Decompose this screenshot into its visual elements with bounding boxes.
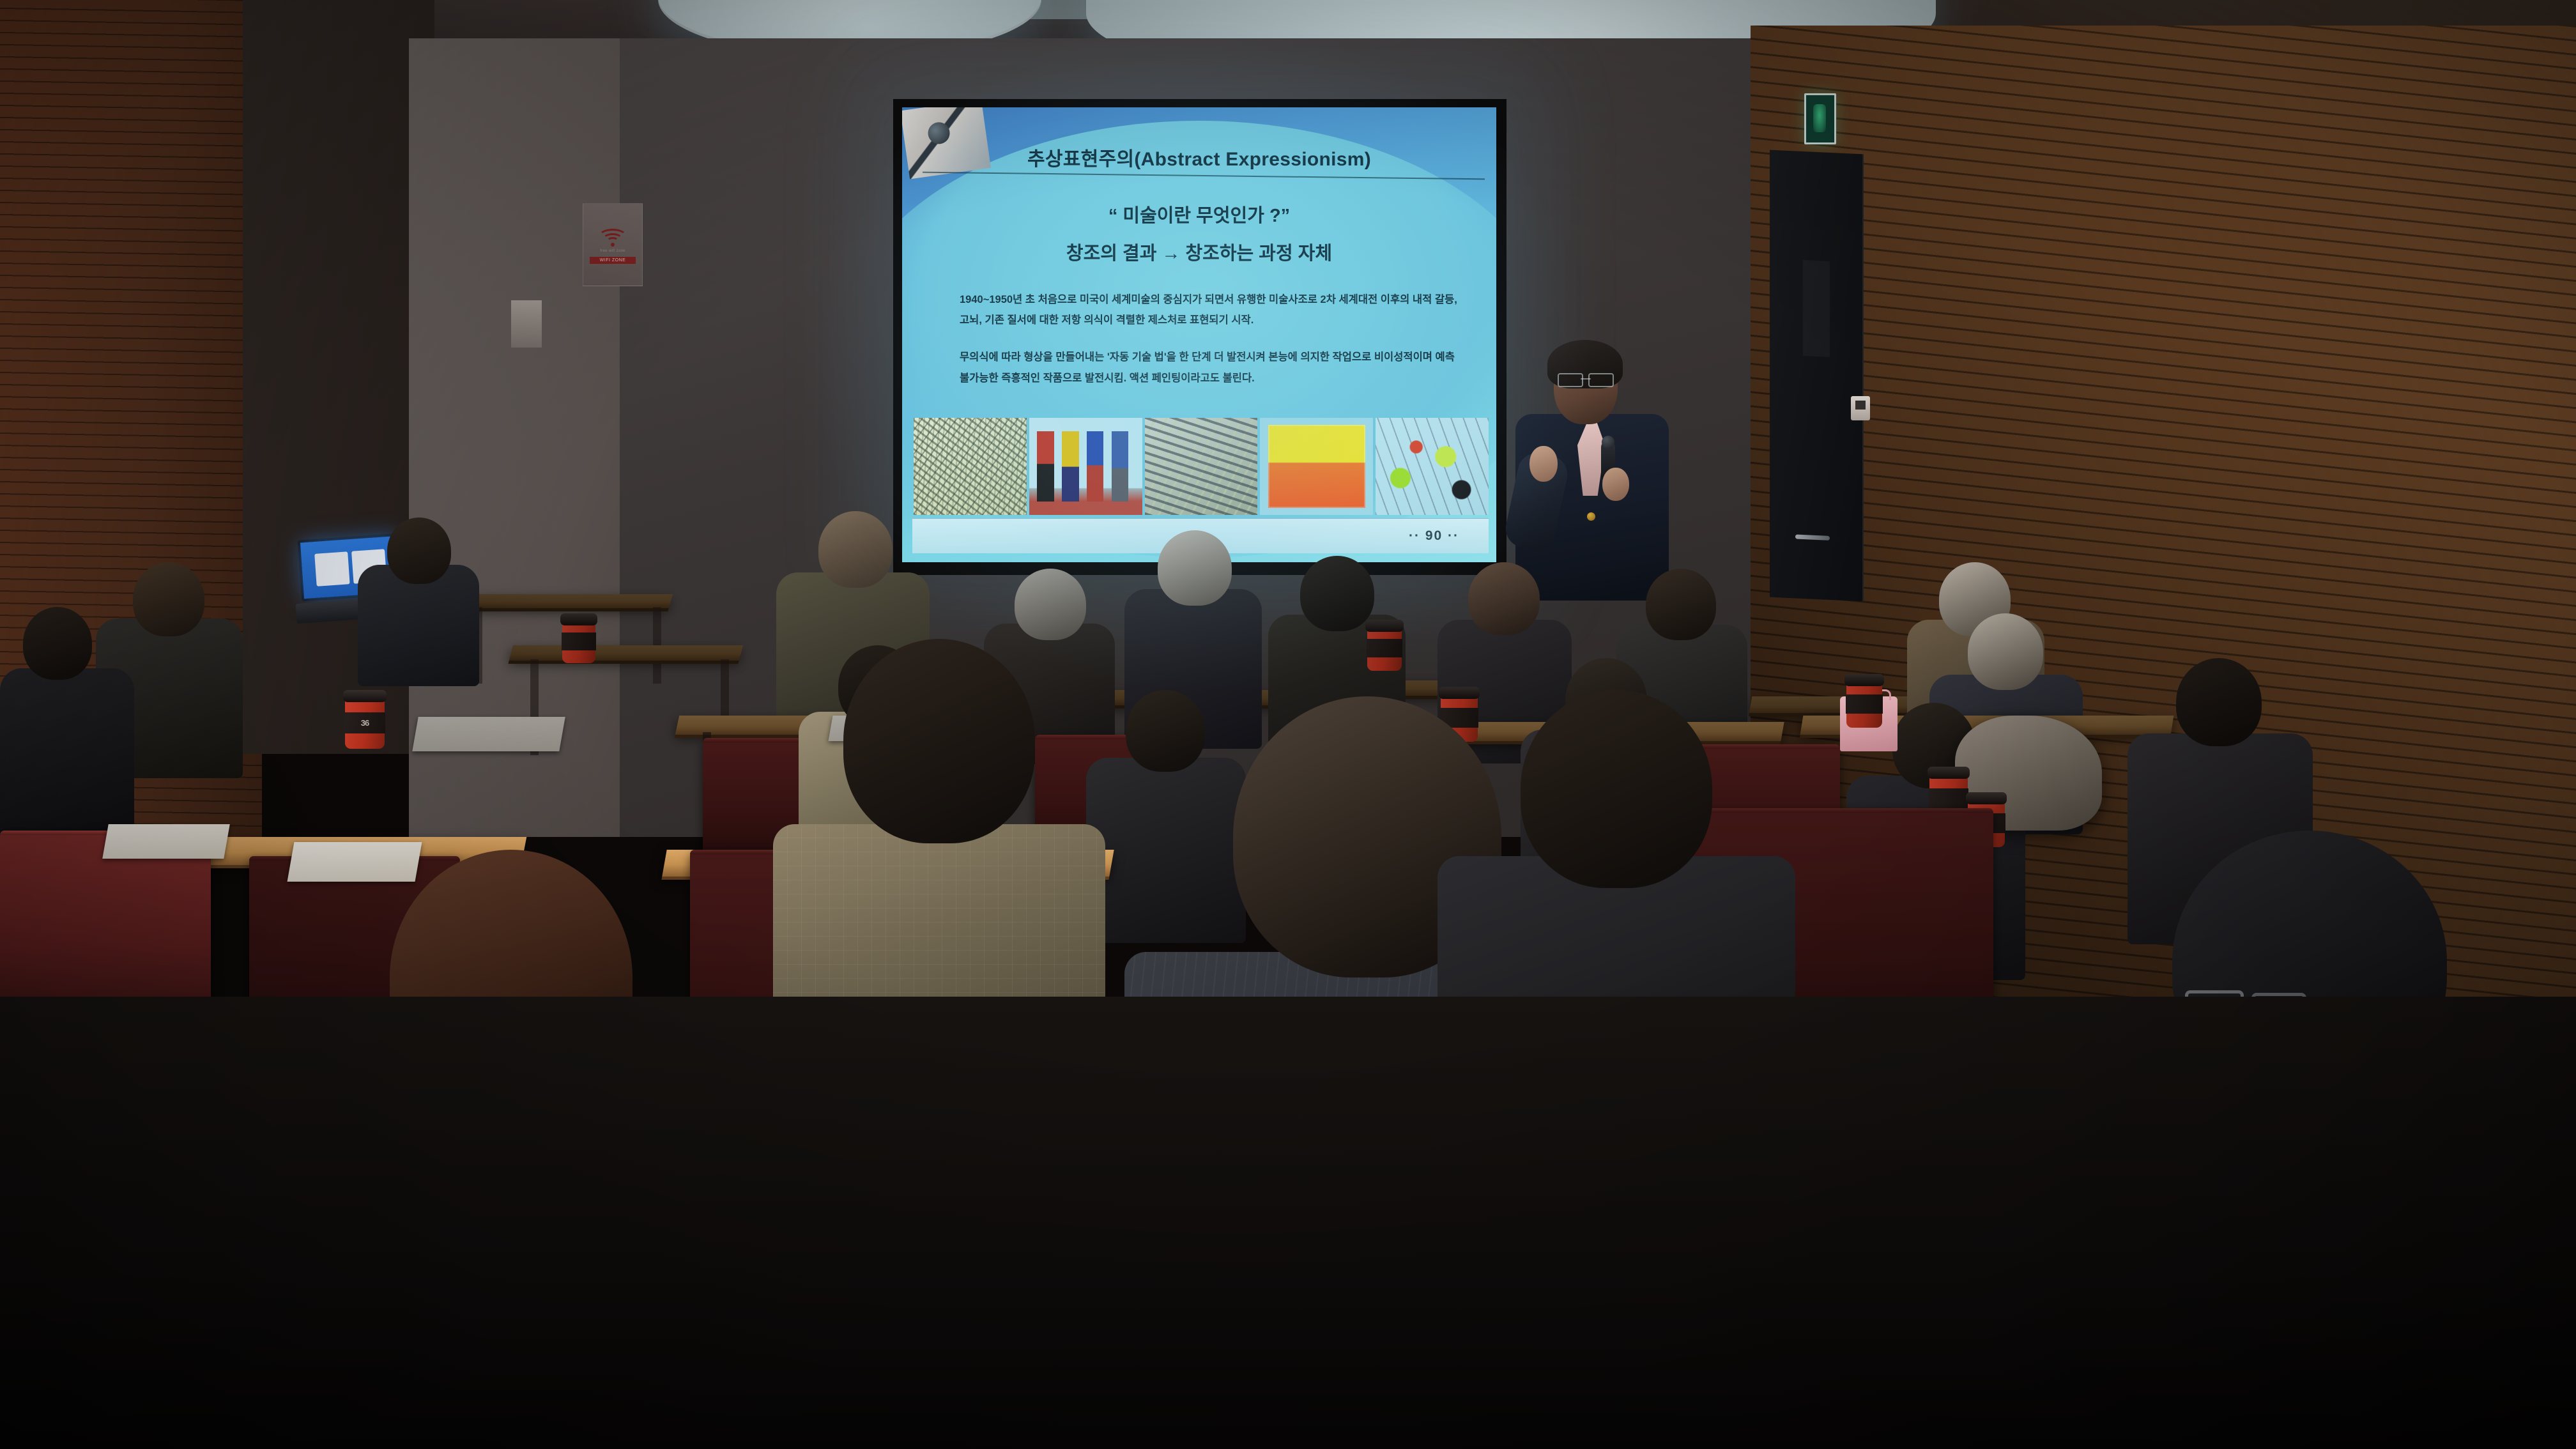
table-row <box>509 645 743 661</box>
wifi-poster-bar: WIFI ZONE <box>590 257 636 264</box>
exit-sign-icon <box>1804 93 1836 144</box>
wall-notice-card <box>511 300 542 348</box>
floor <box>0 997 2576 1449</box>
chair[interactable] <box>0 831 211 1022</box>
handout-paper <box>412 717 565 751</box>
coffee-cup <box>1367 620 1402 671</box>
drip-painting-thumbnail <box>914 418 1027 515</box>
handout-paper <box>102 824 230 859</box>
thermostat-panel[interactable] <box>1851 396 1870 420</box>
handout-paper <box>287 842 422 882</box>
door-plate <box>1803 260 1830 357</box>
rothko-thumbnail <box>1260 418 1373 515</box>
wifi-poster-caption: free wifi zone <box>600 249 625 253</box>
slide-body: 1940~1950년 초 처음으로 미국이 세계미술의 중심지가 되면서 유행한… <box>960 289 1458 405</box>
room-door[interactable] <box>1770 150 1864 602</box>
presenter-right-hand <box>1602 468 1629 501</box>
blazer-button <box>1587 512 1595 521</box>
miro-thumbnail <box>1376 418 1489 515</box>
audience-member <box>0 607 134 837</box>
slide-artwork-strip <box>914 418 1489 515</box>
wifi-icon <box>598 226 627 247</box>
wifi-poster: free wifi zone WIFI ZONE <box>583 203 643 286</box>
cup-logo: 36 <box>361 718 369 728</box>
lecture-hall-photograph: free wifi zone WIFI ZONE 추상표현주의(Abstract… <box>0 0 2576 1449</box>
slide-paragraph-1: 1940~1950년 초 처음으로 미국이 세계미술의 중심지가 되면서 유행한… <box>960 289 1458 330</box>
de-kooning-thumbnail <box>1145 418 1258 515</box>
presenter-glasses-icon <box>1558 373 1614 385</box>
coffee-cup: 36 <box>345 690 385 749</box>
projection-screen: 추상표현주의(Abstract Expressionism) “ 미술이란 무엇… <box>902 107 1496 562</box>
coffee-cup <box>1846 674 1882 728</box>
door-handle[interactable] <box>1795 534 1830 540</box>
presenter-left-hand <box>1529 446 1558 482</box>
slide-subtitle: 창조의 결과 → 창조하는 과정 자체 <box>902 238 1496 265</box>
table-row <box>458 594 673 608</box>
figures-painting-thumbnail <box>1029 418 1142 515</box>
slide-paragraph-2: 무의식에 따라 형상을 만들어내는 '자동 기술 법'을 한 단계 더 발전시켜… <box>960 347 1458 388</box>
audience-member <box>358 517 479 684</box>
slide-page-number: ·· 90 ·· <box>1409 528 1459 544</box>
slide-question: “ 미술이란 무엇인가 ?” <box>902 201 1496 227</box>
coffee-cup <box>562 613 595 663</box>
slide-title: 추상표현주의(Abstract Expressionism) <box>902 143 1496 171</box>
